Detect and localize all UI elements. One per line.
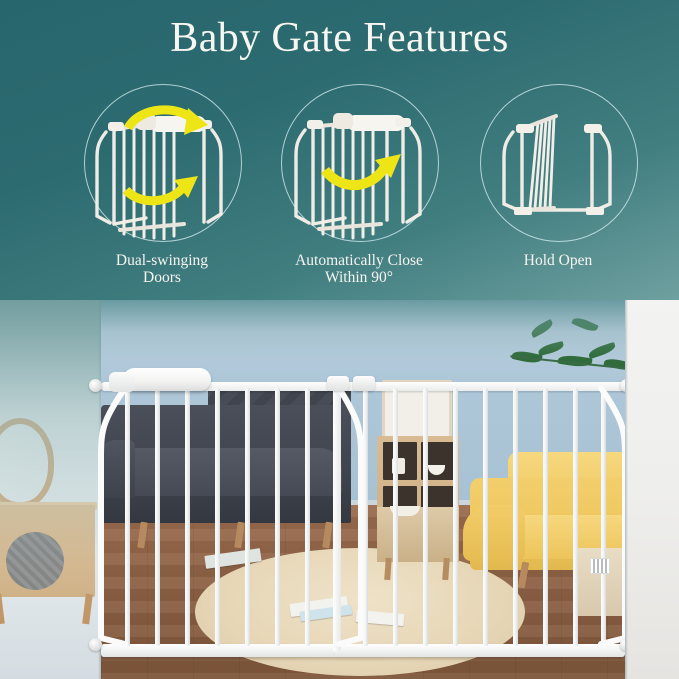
gate-auto-close-icon: [281, 84, 437, 240]
feature-caption: Hold Open: [458, 252, 658, 269]
feature-dual-swinging-doors[interactable]: Dual-swinging Doors: [62, 84, 262, 304]
gate-latch-plate: [590, 558, 610, 574]
gate-wall-mount: [89, 638, 102, 651]
product-photo: [0, 300, 679, 679]
gate-dual-swing-icon: [84, 84, 240, 240]
gate-handle-base: [109, 372, 135, 392]
page-title: Baby Gate Features: [0, 14, 679, 62]
gate-hinge: [353, 376, 375, 391]
gate-center-frame: [329, 386, 369, 654]
feature-hold-open[interactable]: Hold Open: [458, 84, 658, 304]
rattan-panel: [6, 532, 64, 590]
feature-caption: Automatically Close Within 90°: [259, 252, 459, 286]
feature-caption: Dual-swinging Doors: [62, 252, 262, 286]
right-wall: [625, 300, 679, 679]
feature-row: Dual-swinging Doors: [0, 84, 679, 304]
baby-gate: [101, 382, 625, 670]
gate-handle[interactable]: [123, 368, 211, 391]
gate-hold-open-icon: [480, 84, 636, 240]
gate-wall-mount: [89, 379, 102, 392]
product-infographic: Baby Gate Features: [0, 0, 679, 679]
gate-left-frame: [95, 386, 135, 654]
gate-hinge: [327, 376, 349, 391]
swing-arrow-bottom: [126, 176, 198, 201]
feature-automatically-close[interactable]: Automatically Close Within 90°: [259, 84, 459, 304]
